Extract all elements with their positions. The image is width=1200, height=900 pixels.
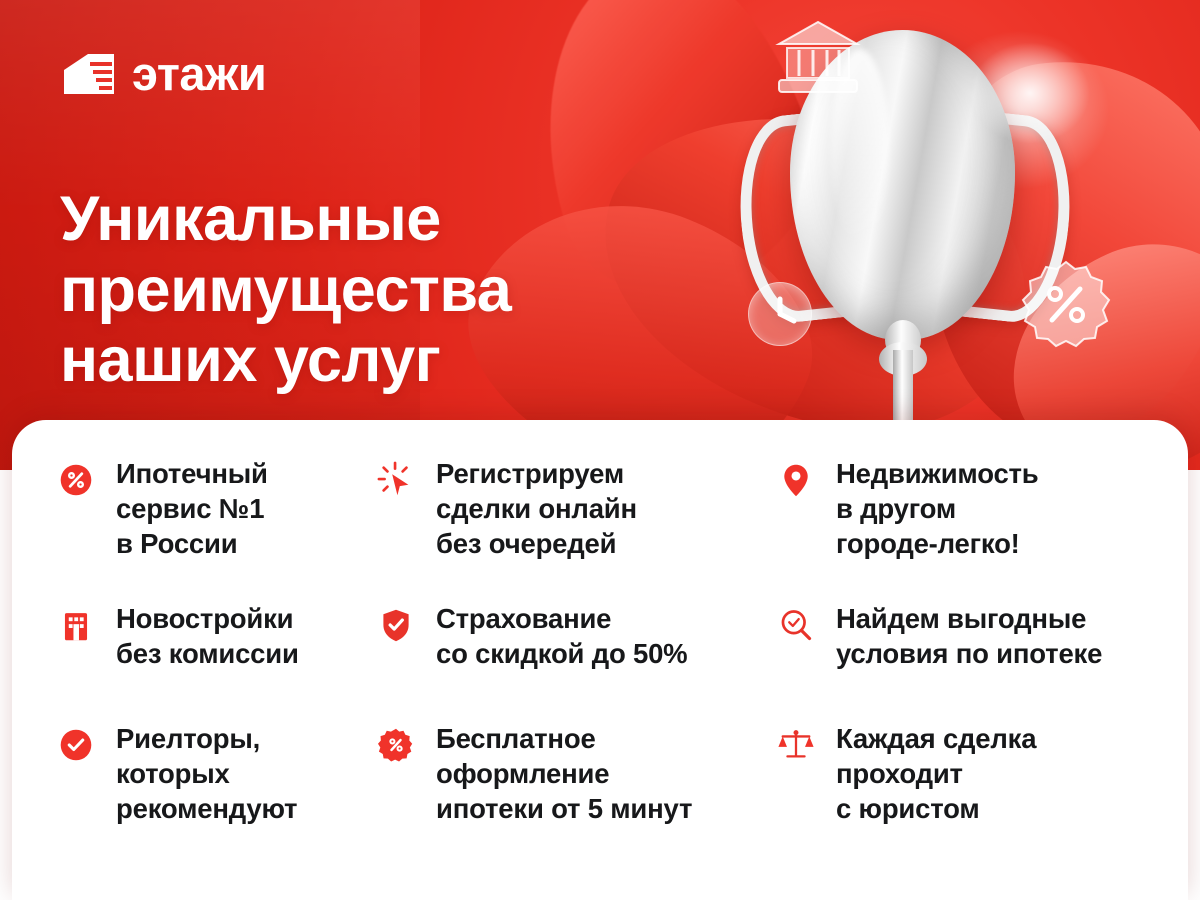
feature-item: Каждая сделка проходит с юристом bbox=[776, 721, 1152, 827]
cursor-click-icon bbox=[376, 460, 416, 500]
bank-glass-icon bbox=[775, 18, 861, 100]
shield-check-icon bbox=[376, 605, 416, 645]
feature-label: Страхование со скидкой до 50% bbox=[436, 601, 687, 671]
features-card: Ипотечный сервис №1 в России bbox=[12, 420, 1188, 900]
page-title: Уникальные преимущества наших услуг bbox=[60, 184, 680, 396]
brand-logo[interactable]: этажи bbox=[62, 50, 266, 97]
percent-circle-icon bbox=[56, 460, 96, 500]
feature-item: Найдем выгодные условия по ипотеке bbox=[776, 601, 1152, 721]
feature-item: Регистрируем сделки онлайн без очередей bbox=[376, 456, 776, 601]
percent-badge-icon bbox=[376, 725, 416, 765]
map-pin-icon bbox=[776, 460, 816, 500]
features-grid: Ипотечный сервис №1 в России bbox=[56, 456, 1152, 827]
promo-banner: этажи Уникальные преимущества наших услу… bbox=[0, 0, 1200, 900]
feature-label: Найдем выгодные условия по ипотеке bbox=[836, 601, 1102, 671]
percent-badge-glass-icon bbox=[1020, 258, 1112, 350]
feature-item: Бесплатное оформление ипотеки от 5 минут bbox=[376, 721, 776, 827]
clock-glass-icon bbox=[748, 282, 812, 346]
apartment-building-icon bbox=[56, 605, 96, 645]
feature-item: Недвижимость в другом городе-легко! bbox=[776, 456, 1152, 601]
scales-justice-icon bbox=[776, 725, 816, 765]
feature-label: Каждая сделка проходит с юристом bbox=[836, 721, 1036, 827]
brand-name: этажи bbox=[132, 50, 266, 97]
trophy-sparkle bbox=[965, 38, 1095, 148]
feature-item: Новостройки без комиссии bbox=[56, 601, 376, 721]
feature-label: Бесплатное оформление ипотеки от 5 минут bbox=[436, 721, 692, 827]
feature-item: Ипотечный сервис №1 в России bbox=[56, 456, 376, 601]
feature-label: Новостройки без комиссии bbox=[116, 601, 299, 671]
building-stairs-icon bbox=[62, 52, 116, 96]
search-check-icon bbox=[776, 605, 816, 645]
check-circle-icon bbox=[56, 725, 96, 765]
hero-section: этажи Уникальные преимущества наших услу… bbox=[0, 0, 1200, 470]
feature-label: Недвижимость в другом городе-легко! bbox=[836, 456, 1039, 562]
feature-label: Риелторы, которых рекомендуют bbox=[116, 721, 297, 827]
feature-item: Риелторы, которых рекомендуют bbox=[56, 721, 376, 827]
feature-label: Ипотечный сервис №1 в России bbox=[116, 456, 268, 562]
feature-item: Страхование со скидкой до 50% bbox=[376, 601, 776, 721]
feature-label: Регистрируем сделки онлайн без очередей bbox=[436, 456, 637, 562]
